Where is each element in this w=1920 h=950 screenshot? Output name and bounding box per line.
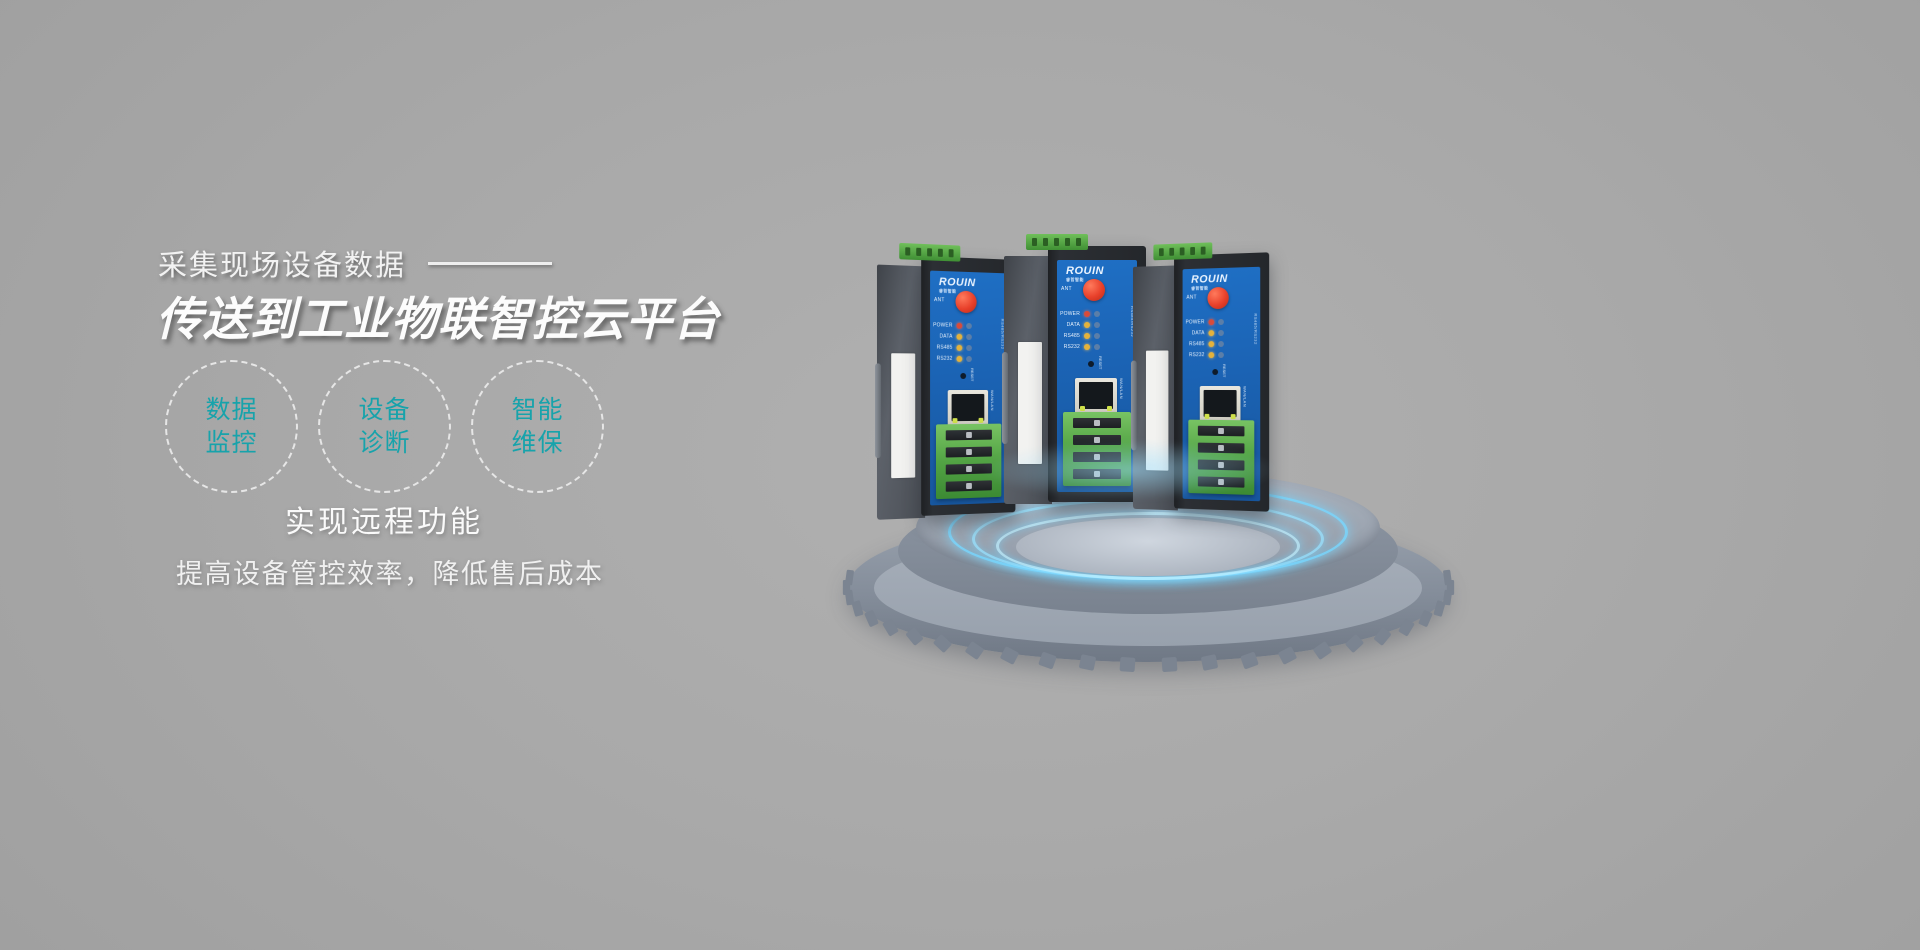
feature-circle-group: 数据 监控 设备 诊断 智能 维保 [165, 360, 604, 493]
led-label: POWER [933, 322, 953, 328]
led-row-rs485: RS485 [933, 341, 1004, 353]
pedestal-glow [980, 440, 1280, 500]
feature-label-line2: 维保 [511, 427, 563, 460]
led-indicator [1084, 322, 1090, 328]
port-label: WAN/LAN [990, 390, 995, 411]
rj45-ethernet-port [1200, 386, 1241, 422]
antenna-connector-icon [1207, 287, 1228, 309]
din-rail-clip [875, 363, 881, 458]
pedestal-tooth [1313, 641, 1333, 660]
banner-copy-column: 采集现场设备数据 传送到工业物联智控云平台 数据 监控 设备 诊断 智能 维保 … [0, 0, 760, 950]
subheading-text: 实现远程功能 [285, 497, 483, 541]
top-terminal-block [1026, 234, 1088, 250]
eyebrow-text: 采集现场设备数据 [158, 242, 406, 284]
tagline-text: 提高设备管控效率，降低售后成本 [176, 552, 604, 591]
antenna-connector-icon [955, 291, 976, 314]
led-label: RS232 [933, 355, 953, 361]
led-indicator [1094, 311, 1100, 317]
antenna-label: ANT [934, 297, 945, 303]
led-label: POWER [1060, 311, 1080, 317]
reset-button[interactable] [1212, 369, 1218, 375]
pedestal-tooth [1161, 657, 1177, 672]
banner-root: 采集现场设备数据 传送到工业物联智控云平台 数据 监控 设备 诊断 智能 维保 … [0, 0, 1920, 950]
led-indicator [956, 344, 962, 350]
pedestal-tooth [1078, 654, 1096, 671]
led-row-rs232: RS232 [1185, 349, 1257, 361]
led-indicator [1084, 311, 1090, 317]
led-label: POWER [1185, 319, 1204, 325]
led-indicator [966, 355, 972, 361]
pedestal-tooth [905, 627, 923, 646]
pedestal-tooth [933, 634, 952, 653]
led-label: RS232 [1185, 352, 1204, 358]
led-indicator [956, 333, 962, 339]
led-label: RS485 [1185, 341, 1204, 347]
led-indicator [956, 355, 962, 361]
led-indicator [1094, 322, 1100, 328]
antenna-label: ANT [1061, 286, 1072, 292]
reset-button[interactable] [1088, 361, 1094, 367]
pedestal-tooth [1240, 651, 1259, 669]
device-spec-sticker [891, 353, 915, 478]
feature-label-line1: 智能 [511, 394, 563, 427]
led-indicator [1084, 344, 1090, 350]
pedestal-tooth [882, 618, 899, 636]
led-row-rs485: RS485 [1060, 330, 1134, 341]
pedestal-tooth [1120, 657, 1136, 672]
eyebrow-row: 采集现场设备数据 [158, 242, 552, 284]
led-label: DATA [1060, 322, 1080, 328]
led-indicator [1208, 352, 1214, 358]
pedestal-tooth [1345, 634, 1364, 653]
antenna-connector-icon [1083, 279, 1105, 301]
led-row-rs232: RS232 [1060, 341, 1134, 352]
led-indicator [1218, 318, 1224, 324]
led-label: DATA [1185, 330, 1204, 336]
top-terminal-block [1153, 242, 1212, 260]
led-row-rs232: RS232 [933, 353, 1004, 365]
pedestal-tooth [845, 569, 854, 585]
din-rail-clip [1002, 352, 1008, 444]
pedestal-tooth [964, 641, 984, 660]
port-label: WAN/LAN [1119, 378, 1124, 399]
din-rail-clip [1131, 361, 1137, 451]
pedestal-tooth [1278, 646, 1297, 665]
reset-label: RESET [1098, 356, 1103, 369]
led-row-rs485: RS485 [1185, 338, 1257, 350]
led-label: RS485 [1060, 333, 1080, 339]
led-panel: POWERDATARS485RS232 [1060, 308, 1134, 352]
reset-button[interactable] [960, 373, 966, 379]
pedestal-tooth [1418, 609, 1433, 627]
led-indicator [1084, 333, 1090, 339]
pedestal-tooth [864, 609, 879, 627]
led-indicator [1208, 330, 1214, 336]
led-row-data: DATA [1060, 319, 1134, 330]
pedestal-tooth [1443, 569, 1452, 585]
feature-circle-device-diagnostics[interactable]: 设备 诊断 [318, 360, 451, 493]
feature-circle-smart-maintenance[interactable]: 智能 维保 [471, 360, 604, 493]
feature-label-line2: 监控 [205, 427, 257, 460]
pedestal-tooth [1374, 627, 1392, 646]
reset-label: RESET [970, 368, 975, 381]
pedestal-tooth [1038, 651, 1057, 669]
led-indicator [1218, 351, 1224, 357]
feature-circle-data-monitoring[interactable]: 数据 监控 [165, 360, 298, 493]
led-indicator [1094, 344, 1100, 350]
feature-label-line2: 诊断 [358, 427, 410, 460]
led-row-power: POWER [1060, 308, 1134, 319]
led-label: RS232 [1060, 344, 1080, 350]
top-terminal-block [899, 243, 960, 262]
led-indicator [1208, 319, 1214, 325]
pedestal-tooth [1433, 600, 1445, 617]
led-panel: POWERDATARS485RS232 [1185, 315, 1257, 360]
led-indicator [966, 344, 972, 350]
led-label: DATA [933, 333, 953, 339]
led-row-data: DATA [1185, 326, 1257, 338]
page-title: 传送到工业物联智控云平台 [156, 283, 720, 349]
eyebrow-divider-line [428, 262, 552, 265]
port-label: WAN/LAN [1242, 386, 1247, 407]
led-panel: POWERDATARS485RS232 [933, 319, 1004, 364]
feature-label-line1: 数据 [205, 394, 257, 427]
rj45-ethernet-port [948, 390, 988, 426]
led-indicator [1218, 329, 1224, 335]
led-indicator [1094, 333, 1100, 339]
serial-port-marking: RS485/RS232 [1253, 313, 1258, 344]
led-indicator [956, 322, 962, 328]
led-indicator [966, 333, 972, 339]
pedestal-core-disc [1016, 518, 1280, 576]
product-scene: ROUIN睿哲智能ANTPOWERDATARS485RS232RS485/RS2… [800, 190, 1560, 640]
led-label: RS485 [933, 344, 953, 350]
device-side-panel [877, 265, 925, 520]
pedestal-tooth [1201, 654, 1219, 671]
led-indicator [1218, 340, 1224, 346]
antenna-label: ANT [1186, 295, 1196, 301]
led-indicator [1208, 341, 1214, 347]
feature-label-line1: 设备 [358, 394, 410, 427]
pedestal-tooth [1000, 646, 1019, 665]
led-indicator [966, 322, 972, 328]
rj45-ethernet-port [1075, 378, 1117, 414]
pedestal-tooth [1398, 618, 1415, 636]
reset-label: RESET [1222, 364, 1227, 377]
